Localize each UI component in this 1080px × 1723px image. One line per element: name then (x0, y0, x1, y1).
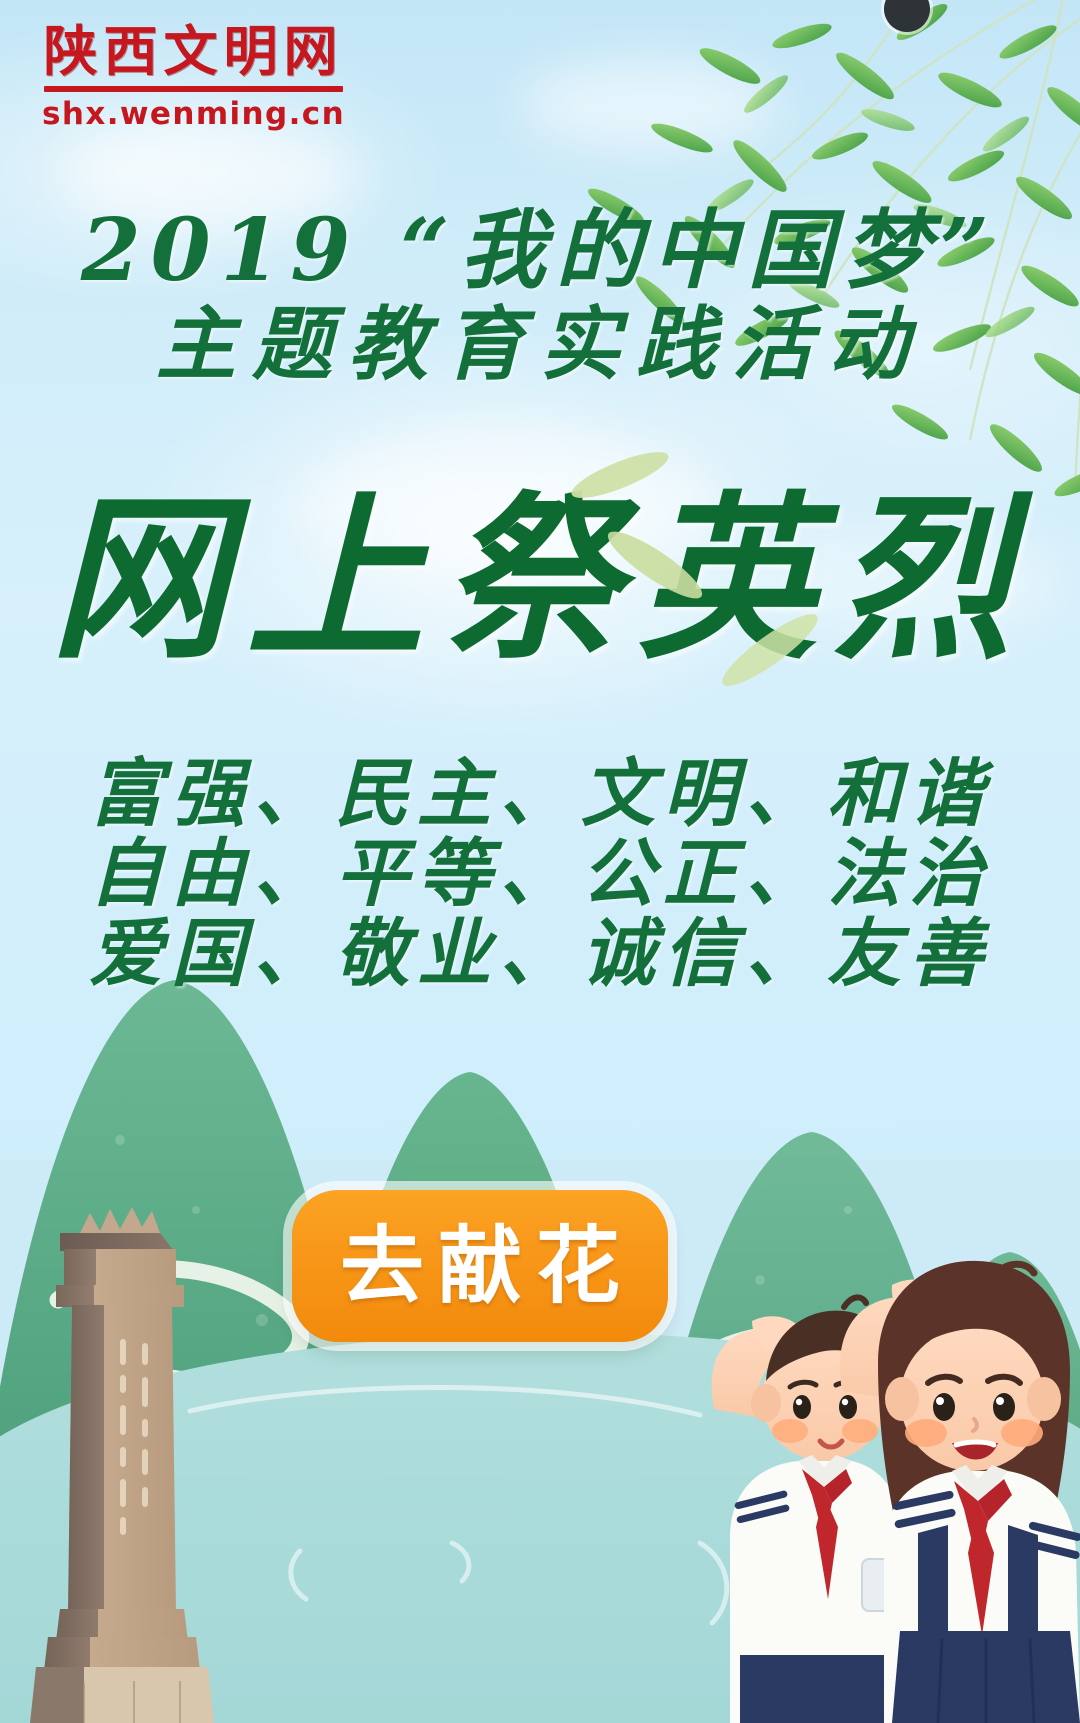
go-offer-flowers-button[interactable]: 去献花 (292, 1190, 668, 1342)
subtitle-line-1: 2019 “我的中国梦” (0, 205, 1080, 298)
saluting-students-illustration (656, 1203, 1080, 1723)
subtitle-line-2: 主题教育实践活动 (0, 300, 1080, 390)
martyrs-monument-illustration (24, 1093, 234, 1723)
campaign-subtitle: 2019 “我的中国梦” 主题教育实践活动 (0, 205, 1080, 389)
site-logo-name: 陕西文明网 (42, 22, 345, 80)
cloud-shape (520, 60, 780, 150)
site-logo-url: shx.wenming.cn (42, 96, 345, 132)
page-title: 网上祭英烈 (0, 490, 1080, 668)
logo-divider (44, 86, 343, 92)
core-values-line-2: 自由、平等、公正、法治 (0, 835, 1080, 915)
core-values-line-1: 富强、民主、文明、和谐 (0, 755, 1080, 835)
poster-canvas: 陕西文明网 shx.wenming.cn 2019 “我的中国梦” 主题教育实践… (0, 0, 1080, 1723)
core-values-line-3: 爱国、敬业、诚信、友善 (0, 915, 1080, 995)
site-logo[interactable]: 陕西文明网 shx.wenming.cn (42, 22, 345, 132)
core-values-block: 富强、民主、文明、和谐 自由、平等、公正、法治 爱国、敬业、诚信、友善 (0, 755, 1080, 995)
